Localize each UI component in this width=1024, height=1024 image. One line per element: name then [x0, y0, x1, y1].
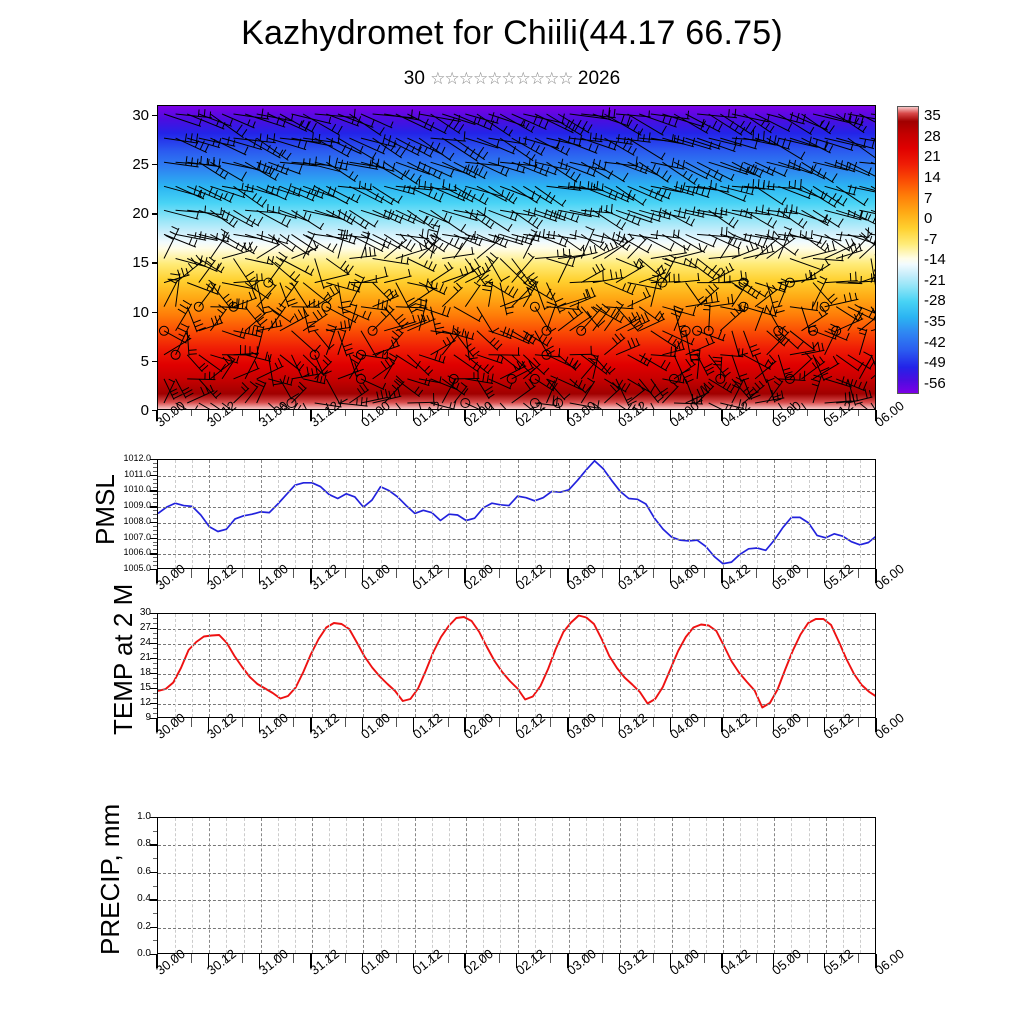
x-tick-minor	[174, 410, 175, 416]
gridline-vertical	[226, 614, 227, 717]
gridline-vertical	[809, 818, 810, 953]
x-tick-minor	[276, 410, 277, 416]
x-tick-major	[875, 410, 876, 421]
pmsl-ytick-label: 1008.0	[107, 517, 151, 526]
pmsl-ytick-minor	[153, 514, 157, 515]
gridline-vertical	[860, 818, 861, 953]
x-tick-minor	[191, 718, 192, 727]
gridline-vertical	[175, 460, 176, 568]
pmsl-ytick-label: 1011.0	[107, 470, 151, 479]
gridline-horizontal	[158, 689, 875, 690]
gridline-vertical	[466, 614, 467, 717]
subtitle-year: 2026	[578, 68, 620, 89]
gridline-vertical	[192, 460, 193, 568]
colorbar-tick-28: 28	[924, 129, 941, 144]
x-tick-minor	[687, 410, 688, 416]
temp-ytick-minor	[153, 693, 157, 694]
wind-barbs-overlay	[158, 106, 876, 410]
x-tick-minor	[602, 410, 603, 416]
gridline-vertical	[415, 818, 416, 953]
pmsl-ytick-mark	[150, 459, 157, 460]
gridline-vertical	[209, 818, 210, 953]
page-title: Kazhydromet for Chiili(44.17 66.75)	[0, 14, 1024, 53]
x-tick-minor	[858, 954, 859, 963]
gridline-horizontal	[158, 644, 875, 645]
cross-section-plot	[157, 105, 876, 410]
gridline-vertical	[860, 460, 861, 568]
x-tick-minor	[242, 569, 243, 578]
precip-ytick-label: 1.0	[127, 812, 151, 822]
precip-ytick-minor	[153, 886, 157, 887]
temp-ytick-mark	[150, 628, 157, 629]
precip-ytick-minor	[153, 913, 157, 914]
x-tick-major	[464, 410, 465, 421]
temp-ytick-label: 18	[131, 668, 151, 678]
gridline-horizontal	[158, 507, 875, 508]
gridline-vertical	[654, 614, 655, 717]
gridline-vertical	[209, 460, 210, 568]
pmsl-ytick-mark	[150, 553, 157, 554]
pmsl-ytick-minor	[153, 561, 157, 562]
gridline-vertical	[518, 818, 519, 953]
gridline-vertical	[552, 614, 553, 717]
x-tick-major	[824, 410, 825, 421]
gridline-vertical	[363, 818, 364, 953]
subtitle-stars-glyphs: ☆☆☆☆☆☆☆☆☆☆	[430, 69, 572, 88]
gridline-vertical	[500, 614, 501, 717]
x-tick-minor	[191, 410, 192, 416]
gridline-vertical	[398, 614, 399, 717]
gridline-horizontal	[158, 900, 875, 901]
precip-ytick-minor	[153, 940, 157, 941]
colorbar-tick--21: -21	[924, 273, 946, 288]
gridline-vertical	[329, 818, 330, 953]
gridline-vertical	[603, 460, 604, 568]
temp-ytick-mark	[150, 703, 157, 704]
temp-ytick-minor	[153, 623, 157, 624]
x-tick-minor	[704, 718, 705, 727]
pmsl-ytick-label: 1009.0	[107, 501, 151, 510]
gridline-vertical	[466, 818, 467, 953]
gridline-vertical	[500, 818, 501, 953]
gridline-vertical	[672, 614, 673, 717]
x-tick-minor	[739, 410, 740, 416]
pmsl-ytick-minor	[153, 463, 157, 464]
x-tick-major	[567, 410, 568, 421]
pmsl-ytick-minor	[153, 467, 157, 468]
gridline-vertical	[740, 614, 741, 717]
temp-ytick-minor	[153, 648, 157, 649]
gridline-vertical	[346, 460, 347, 568]
gridline-vertical	[569, 818, 570, 953]
pmsl-ytick-minor	[153, 510, 157, 511]
x-tick-minor	[807, 410, 808, 416]
temp-ytick-mark	[150, 673, 157, 674]
gridline-vertical	[843, 818, 844, 953]
pmsl-ytick-minor	[153, 530, 157, 531]
gridline-vertical	[244, 818, 245, 953]
temp-ytick-minor	[153, 668, 157, 669]
temp-ytick-mark	[150, 643, 157, 644]
gridline-vertical	[466, 460, 467, 568]
gridline-horizontal	[158, 674, 875, 675]
gridline-vertical	[535, 614, 536, 717]
cross-section-ytick-10: 10	[113, 304, 149, 321]
gridline-vertical	[175, 614, 176, 717]
gridline-vertical	[483, 614, 484, 717]
gridline-horizontal	[158, 845, 875, 846]
gridline-vertical	[278, 818, 279, 953]
cross-section-ytick-mark	[152, 262, 157, 263]
x-tick-minor	[653, 718, 654, 727]
pmsl-ytick-label: 1006.0	[107, 548, 151, 557]
x-tick-minor	[858, 718, 859, 727]
temp-ytick-label: 21	[131, 653, 151, 663]
gridline-horizontal	[158, 491, 875, 492]
gridline-vertical	[774, 614, 775, 717]
x-tick-minor	[379, 410, 380, 416]
x-tick-minor	[653, 569, 654, 578]
gridline-vertical	[689, 818, 690, 953]
gridline-horizontal	[158, 476, 875, 477]
pmsl-ytick-minor	[153, 494, 157, 495]
x-tick-minor	[858, 569, 859, 578]
x-tick-minor	[653, 954, 654, 963]
gridline-vertical	[192, 614, 193, 717]
cross-section-ytick-5: 5	[113, 353, 149, 370]
gridline-vertical	[278, 614, 279, 717]
pmsl-ytick-minor	[153, 565, 157, 566]
gridline-vertical	[552, 818, 553, 953]
gridline-vertical	[757, 818, 758, 953]
x-tick-major	[670, 410, 671, 421]
precip-ytick-minor	[153, 831, 157, 832]
subtitle-day: 30	[404, 68, 425, 89]
gridline-vertical	[518, 460, 519, 568]
x-tick-label-06.00: 06.00	[872, 710, 907, 742]
x-tick-minor	[328, 410, 329, 416]
gridline-vertical	[586, 460, 587, 568]
temp-ytick-label: 9	[131, 713, 151, 723]
gridline-vertical	[500, 460, 501, 568]
temperature-colorbar	[897, 106, 919, 394]
gridline-vertical	[483, 818, 484, 953]
temp-ytick-minor	[153, 713, 157, 714]
pmsl-ytick-minor	[153, 479, 157, 480]
precip-ytick-mark	[150, 899, 157, 900]
gridline-vertical	[535, 818, 536, 953]
x-tick-minor	[396, 954, 397, 963]
precip-ytick-label: 0.4	[127, 894, 151, 904]
gridline-vertical	[654, 460, 655, 568]
temp-ytick-minor	[153, 683, 157, 684]
x-tick-minor	[242, 410, 243, 416]
gridline-vertical	[398, 818, 399, 953]
gridline-vertical	[535, 460, 536, 568]
gridline-vertical	[363, 614, 364, 717]
precip-ytick-mark	[150, 927, 157, 928]
gridline-horizontal	[158, 539, 875, 540]
precip-ytick-mark	[150, 872, 157, 873]
gridline-vertical	[346, 614, 347, 717]
gridline-vertical	[826, 818, 827, 953]
x-tick-minor	[550, 718, 551, 727]
colorbar-tick-0: 0	[924, 211, 932, 226]
temp-ytick-mark	[150, 658, 157, 659]
x-tick-major	[310, 410, 311, 421]
x-tick-minor	[293, 569, 294, 578]
x-tick-minor	[790, 410, 791, 416]
precip-ytick-label: 0.6	[127, 867, 151, 877]
x-tick-minor	[584, 410, 585, 416]
gridline-vertical	[586, 818, 587, 953]
x-tick-minor	[602, 954, 603, 963]
x-tick-minor	[345, 410, 346, 416]
temp-ytick-minor	[153, 638, 157, 639]
gridline-vertical	[449, 818, 450, 953]
x-tick-minor	[242, 954, 243, 963]
gridline-vertical	[757, 614, 758, 717]
gridline-vertical	[603, 614, 604, 717]
x-tick-minor	[858, 410, 859, 416]
cross-section-ytick-mark	[152, 115, 157, 116]
gridline-vertical	[278, 460, 279, 568]
gridline-vertical	[774, 818, 775, 953]
pmsl-ytick-minor	[153, 471, 157, 472]
gridline-vertical	[569, 460, 570, 568]
precip-ytick-mark	[150, 817, 157, 818]
pmsl-ytick-mark	[150, 475, 157, 476]
x-tick-minor	[653, 410, 654, 416]
colorbar-tick-7: 7	[924, 191, 932, 206]
x-tick-major	[208, 410, 209, 421]
gridline-vertical	[740, 818, 741, 953]
gridline-vertical	[706, 818, 707, 953]
pmsl-ytick-mark	[150, 538, 157, 539]
pmsl-ytick-minor	[153, 526, 157, 527]
gridline-vertical	[295, 614, 296, 717]
cross-section-ytick-15: 15	[113, 254, 149, 271]
colorbar-tick--14: -14	[924, 252, 946, 267]
x-tick-minor	[448, 954, 449, 963]
temp-ytick-mark	[150, 613, 157, 614]
gridline-horizontal	[158, 554, 875, 555]
colorbar-tick--7: -7	[924, 232, 937, 247]
precip-axis-label: PRECIP, mm	[95, 804, 126, 955]
gridline-vertical	[620, 818, 621, 953]
gridline-vertical	[312, 460, 313, 568]
colorbar-tick--35: -35	[924, 314, 946, 329]
gridline-vertical	[637, 818, 638, 953]
x-tick-minor	[756, 410, 757, 416]
pmsl-plot	[157, 459, 876, 569]
precip-ytick-label: 0.8	[127, 839, 151, 849]
x-tick-minor	[225, 410, 226, 416]
gridline-vertical	[791, 614, 792, 717]
temp-ytick-label: 30	[131, 608, 151, 618]
x-tick-minor	[807, 569, 808, 578]
gridline-vertical	[774, 460, 775, 568]
gridline-vertical	[432, 614, 433, 717]
pmsl-ytick-mark	[150, 490, 157, 491]
gridline-vertical	[723, 460, 724, 568]
gridline-horizontal	[158, 704, 875, 705]
gridline-vertical	[381, 460, 382, 568]
x-tick-major	[721, 410, 722, 421]
gridline-vertical	[672, 460, 673, 568]
cross-section-ytick-mark	[152, 213, 157, 214]
gridline-vertical	[261, 614, 262, 717]
colorbar-tick--42: -42	[924, 335, 946, 350]
gridline-vertical	[860, 614, 861, 717]
x-tick-minor	[550, 569, 551, 578]
temp-ytick-minor	[153, 618, 157, 619]
colorbar-tick--28: -28	[924, 293, 946, 308]
gridline-vertical	[620, 460, 621, 568]
x-tick-minor	[550, 954, 551, 963]
colorbar-tick--56: -56	[924, 376, 946, 391]
precip-ytick-label: 0.2	[127, 922, 151, 932]
gridline-vertical	[449, 614, 450, 717]
x-tick-minor	[602, 718, 603, 727]
x-tick-minor	[807, 954, 808, 963]
x-tick-minor	[499, 718, 500, 727]
gridline-vertical	[586, 614, 587, 717]
gridline-vertical	[672, 818, 673, 953]
gridline-vertical	[244, 614, 245, 717]
colorbar-tick-14: 14	[924, 170, 941, 185]
gridline-vertical	[637, 614, 638, 717]
pmsl-ytick-label: 1007.0	[107, 533, 151, 542]
pmsl-ytick-minor	[153, 545, 157, 546]
x-tick-minor	[191, 569, 192, 578]
temp-ytick-minor	[153, 663, 157, 664]
precip-ytick-mark	[150, 844, 157, 845]
cross-section-ytick-mark	[152, 312, 157, 313]
x-tick-minor	[636, 410, 637, 416]
pmsl-ytick-minor	[153, 498, 157, 499]
cross-section-ytick-20: 20	[113, 205, 149, 222]
colorbar-tick-21: 21	[924, 149, 941, 164]
gridline-vertical	[209, 614, 210, 717]
gridline-vertical	[518, 614, 519, 717]
pmsl-ytick-minor	[153, 557, 157, 558]
x-tick-minor	[482, 410, 483, 416]
x-tick-minor	[499, 410, 500, 416]
gridline-vertical	[569, 614, 570, 717]
x-tick-minor	[704, 410, 705, 416]
pmsl-ytick-minor	[153, 518, 157, 519]
gridline-vertical	[261, 818, 262, 953]
pmsl-ytick-label: 1005.0	[107, 564, 151, 573]
gridline-vertical	[809, 614, 810, 717]
gridline-vertical	[261, 460, 262, 568]
x-tick-minor	[841, 410, 842, 416]
temp-ytick-minor	[153, 708, 157, 709]
gridline-vertical	[363, 460, 364, 568]
gridline-vertical	[689, 460, 690, 568]
gridline-vertical	[791, 818, 792, 953]
gridline-horizontal	[158, 523, 875, 524]
x-tick-minor	[756, 718, 757, 727]
x-tick-minor	[499, 954, 500, 963]
x-tick-minor	[293, 954, 294, 963]
gridline-vertical	[689, 614, 690, 717]
gridline-vertical	[603, 818, 604, 953]
gridline-vertical	[723, 818, 724, 953]
x-tick-minor	[533, 410, 534, 416]
gridline-vertical	[620, 614, 621, 717]
gridline-vertical	[826, 614, 827, 717]
cross-section-ytick-30: 30	[113, 107, 149, 124]
x-tick-label-06.00: 06.00	[872, 398, 907, 430]
x-tick-minor	[448, 569, 449, 578]
temp-ytick-label: 27	[131, 623, 151, 633]
x-tick-minor	[345, 954, 346, 963]
x-tick-minor	[448, 410, 449, 416]
gridline-vertical	[654, 818, 655, 953]
x-tick-minor	[396, 569, 397, 578]
pmsl-ytick-minor	[153, 549, 157, 550]
x-tick-minor	[550, 410, 551, 416]
precip-ytick-label: 0.0	[127, 949, 151, 959]
gridline-vertical	[449, 460, 450, 568]
x-tick-minor	[602, 569, 603, 578]
gridline-vertical	[552, 460, 553, 568]
temp-ytick-label: 12	[131, 698, 151, 708]
x-tick-minor	[345, 718, 346, 727]
gridline-horizontal	[158, 659, 875, 660]
cross-section-ytick-0: 0	[113, 402, 149, 419]
x-tick-major	[362, 410, 363, 421]
cross-section-ytick-25: 25	[113, 156, 149, 173]
x-tick-major	[259, 410, 260, 421]
gridline-vertical	[826, 460, 827, 568]
precip-ytick-minor	[153, 858, 157, 859]
x-tick-minor	[704, 569, 705, 578]
gridline-vertical	[295, 460, 296, 568]
gridline-vertical	[809, 460, 810, 568]
gridline-vertical	[843, 614, 844, 717]
gridline-vertical	[432, 460, 433, 568]
pmsl-ytick-minor	[153, 542, 157, 543]
x-tick-minor	[396, 410, 397, 416]
x-tick-minor	[499, 569, 500, 578]
gridline-vertical	[226, 460, 227, 568]
precip-plot	[157, 817, 876, 954]
pmsl-ytick-minor	[153, 487, 157, 488]
x-tick-minor	[396, 718, 397, 727]
pmsl-ytick-mark	[150, 522, 157, 523]
gridline-vertical	[637, 460, 638, 568]
x-tick-major	[773, 410, 774, 421]
x-tick-minor	[448, 718, 449, 727]
gridline-vertical	[329, 614, 330, 717]
chart-subtitle: 30 ☆☆☆☆☆☆☆☆☆☆ 2026	[0, 68, 1024, 90]
x-tick-minor	[345, 569, 346, 578]
gridline-vertical	[740, 460, 741, 568]
gridline-vertical	[244, 460, 245, 568]
temp-ytick-mark	[150, 688, 157, 689]
temp-ytick-minor	[153, 653, 157, 654]
pmsl-ytick-label: 1010.0	[107, 485, 151, 494]
temp-plot	[157, 613, 876, 718]
temp-ytick-minor	[153, 698, 157, 699]
cross-section-ytick-mark	[152, 164, 157, 165]
x-tick-minor	[191, 954, 192, 963]
temp-ytick-minor	[153, 678, 157, 679]
pmsl-ytick-minor	[153, 502, 157, 503]
